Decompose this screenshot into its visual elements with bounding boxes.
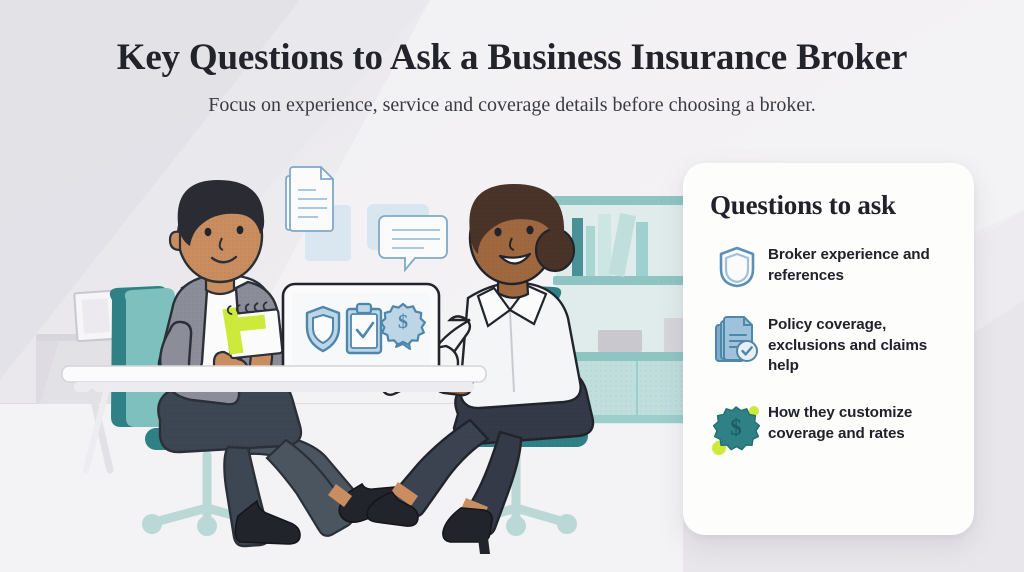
list-item-label: How they customize coverage and rates xyxy=(764,401,952,444)
card-title: Questions to ask xyxy=(710,190,952,221)
list-item-label: Broker experience and references xyxy=(764,243,952,286)
documents-check-icon xyxy=(710,313,764,365)
infographic-canvas: $ Key Questions to Ask a Business Insura… xyxy=(0,0,1024,572)
speech-bubbles-icon xyxy=(367,204,447,270)
list-item-label: Policy coverage, exclusions and claims h… xyxy=(764,313,952,377)
shield-icon xyxy=(710,243,764,289)
page-title: Key Questions to Ask a Business Insuranc… xyxy=(0,38,1024,79)
svg-text:$: $ xyxy=(730,415,742,440)
page-subtitle: Focus on experience, service and coverag… xyxy=(0,93,1024,117)
list-item: Policy coverage, exclusions and claims h… xyxy=(710,313,952,377)
header: Key Questions to Ask a Business Insuranc… xyxy=(0,0,1024,117)
svg-text:$: $ xyxy=(398,311,408,333)
questions-card: Questions to ask Broker experience and r… xyxy=(683,163,974,535)
document-stack-icon xyxy=(286,167,351,261)
dollar-badge-icon: $ xyxy=(710,401,764,455)
list-item: Broker experience and references xyxy=(710,243,952,289)
clipboard-check-icon xyxy=(347,304,381,353)
list-item: $ How they customize coverage and rates xyxy=(710,401,952,455)
